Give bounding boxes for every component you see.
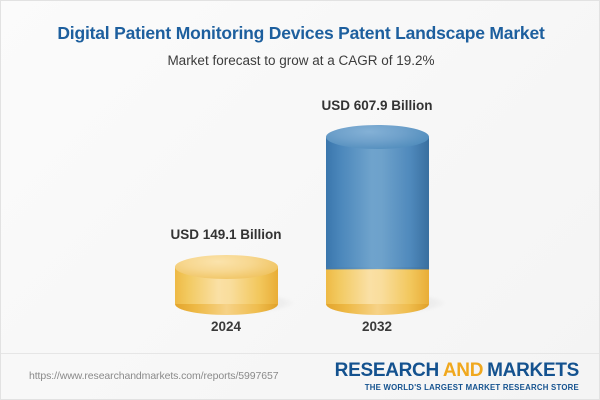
report-url[interactable]: https://www.researchandmarkets.com/repor…	[29, 370, 278, 382]
bar-segment-seam-2032	[326, 267, 429, 270]
footer: https://www.researchandmarkets.com/repor…	[1, 354, 600, 400]
axis-label-2024: 2024	[141, 319, 311, 334]
infographic-card: Digital Patient Monitoring Devices Paten…	[0, 0, 600, 400]
logo-wordmark: RESEARCHANDMARKETS	[335, 361, 579, 381]
axis-label-2032: 2032	[292, 319, 462, 334]
bar-base-segment-2032[interactable]	[326, 269, 429, 304]
logo-word-markets: MARKETS	[487, 360, 579, 381]
logo-tagline: THE WORLD'S LARGEST MARKET RESEARCH STOR…	[335, 383, 579, 392]
logo-word-research: RESEARCH	[335, 360, 439, 381]
research-and-markets-logo[interactable]: RESEARCHANDMARKETS THE WORLD'S LARGEST M…	[335, 361, 579, 392]
cylinder-top-2032	[326, 125, 429, 149]
logo-word-and: AND	[439, 360, 487, 381]
cylinder-top-2024	[175, 255, 278, 279]
bar-body-2032[interactable]	[326, 137, 429, 269]
chart-plot-area: USD 149.1 Billion 2024 USD 607.9 Billion…	[1, 1, 600, 353]
data-label-2032: USD 607.9 Billion	[292, 98, 462, 113]
data-label-2024: USD 149.1 Billion	[141, 227, 311, 242]
